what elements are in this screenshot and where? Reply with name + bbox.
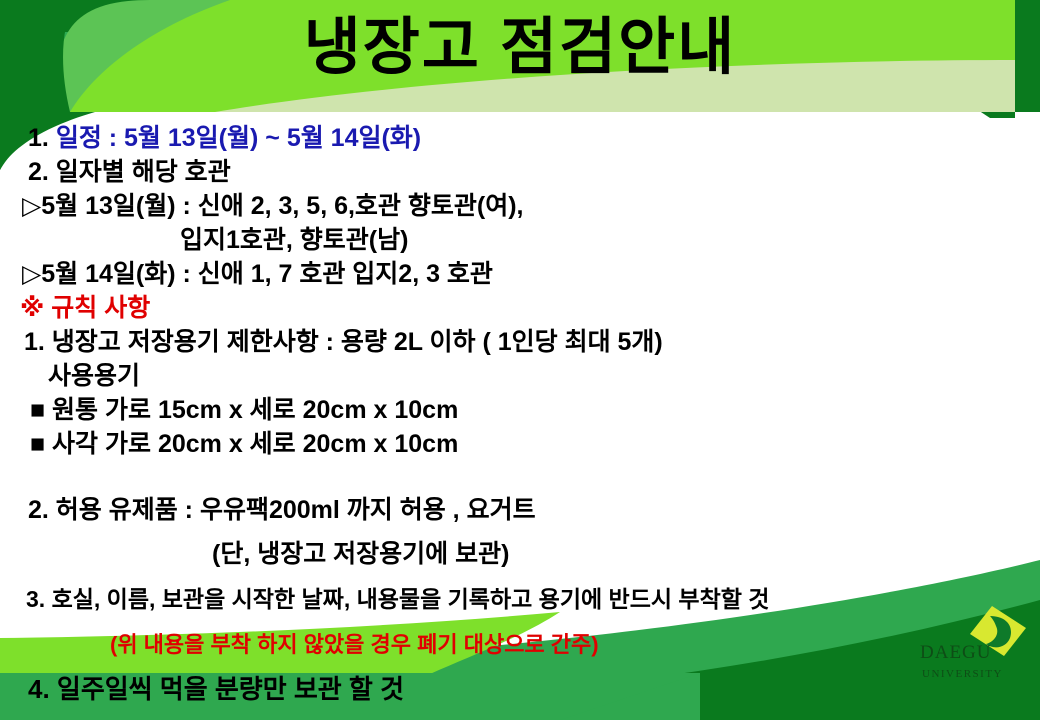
page-title: 냉장고 점검안내	[0, 12, 1040, 83]
by-date-heading: 2. 일자별 해당 호관	[28, 160, 231, 185]
rule-1: 1. 냉장고 저장용기 제한사항 : 용량 2L 이하 ( 1인당 최대 5개)	[24, 330, 663, 355]
logo-subtext: UNIVERSITY	[922, 668, 1003, 680]
schedule-value: 일정 : 5월 13일(월) ~ 5월 14일(화)	[56, 124, 421, 152]
rules-heading: ※ 규칙 사항	[20, 296, 150, 321]
rule-1-sub: 사용용기	[48, 364, 140, 389]
rule-2-note: (단, 냉장고 저장용기에 보관)	[212, 542, 509, 567]
body-content: 1. 일정 : 5월 13일(월) ~ 5월 14일(화) 2. 일자별 해당 …	[0, 118, 1040, 666]
date-1-buildings: ▷5월 13일(월) : 신애 2, 3, 5, 6,호관 향토관(여),	[22, 194, 523, 219]
date-2-buildings: ▷5월 14일(화) : 신애 1, 7 호관 입지2, 3 호관	[22, 262, 493, 287]
rule-3-warning: (위 내용을 부착 하지 않았을 경우 폐기 대상으로 간주)	[110, 634, 599, 656]
schedule-number: 1.	[28, 124, 49, 152]
schedule-heading: 1. 일정 : 5월 13일(월) ~ 5월 14일(화)	[28, 126, 421, 151]
rule-3: 3. 호실, 이름, 보관을 시작한 날짜, 내용물을 기록하고 용기에 반드시…	[26, 588, 769, 611]
rule-1-item-1: ■ 원통 가로 15cm x 세로 20cm x 10cm	[30, 398, 458, 423]
slide-canvas: 냉장고 점검안내 1. 일정 : 5월 13일(월) ~ 5월 14일(화) 2…	[0, 0, 1040, 720]
rule-2: 2. 허용 유제품 : 우유팩200ml 까지 허용 , 요거트	[28, 498, 536, 523]
rule-4: 4. 일주일씩 먹을 분량만 보관 할 것	[28, 669, 404, 706]
rule-1-item-2: ■ 사각 가로 20cm x 세로 20cm x 10cm	[30, 432, 458, 457]
date-1-buildings-cont: 입지1호관, 향토관(남)	[180, 228, 408, 253]
